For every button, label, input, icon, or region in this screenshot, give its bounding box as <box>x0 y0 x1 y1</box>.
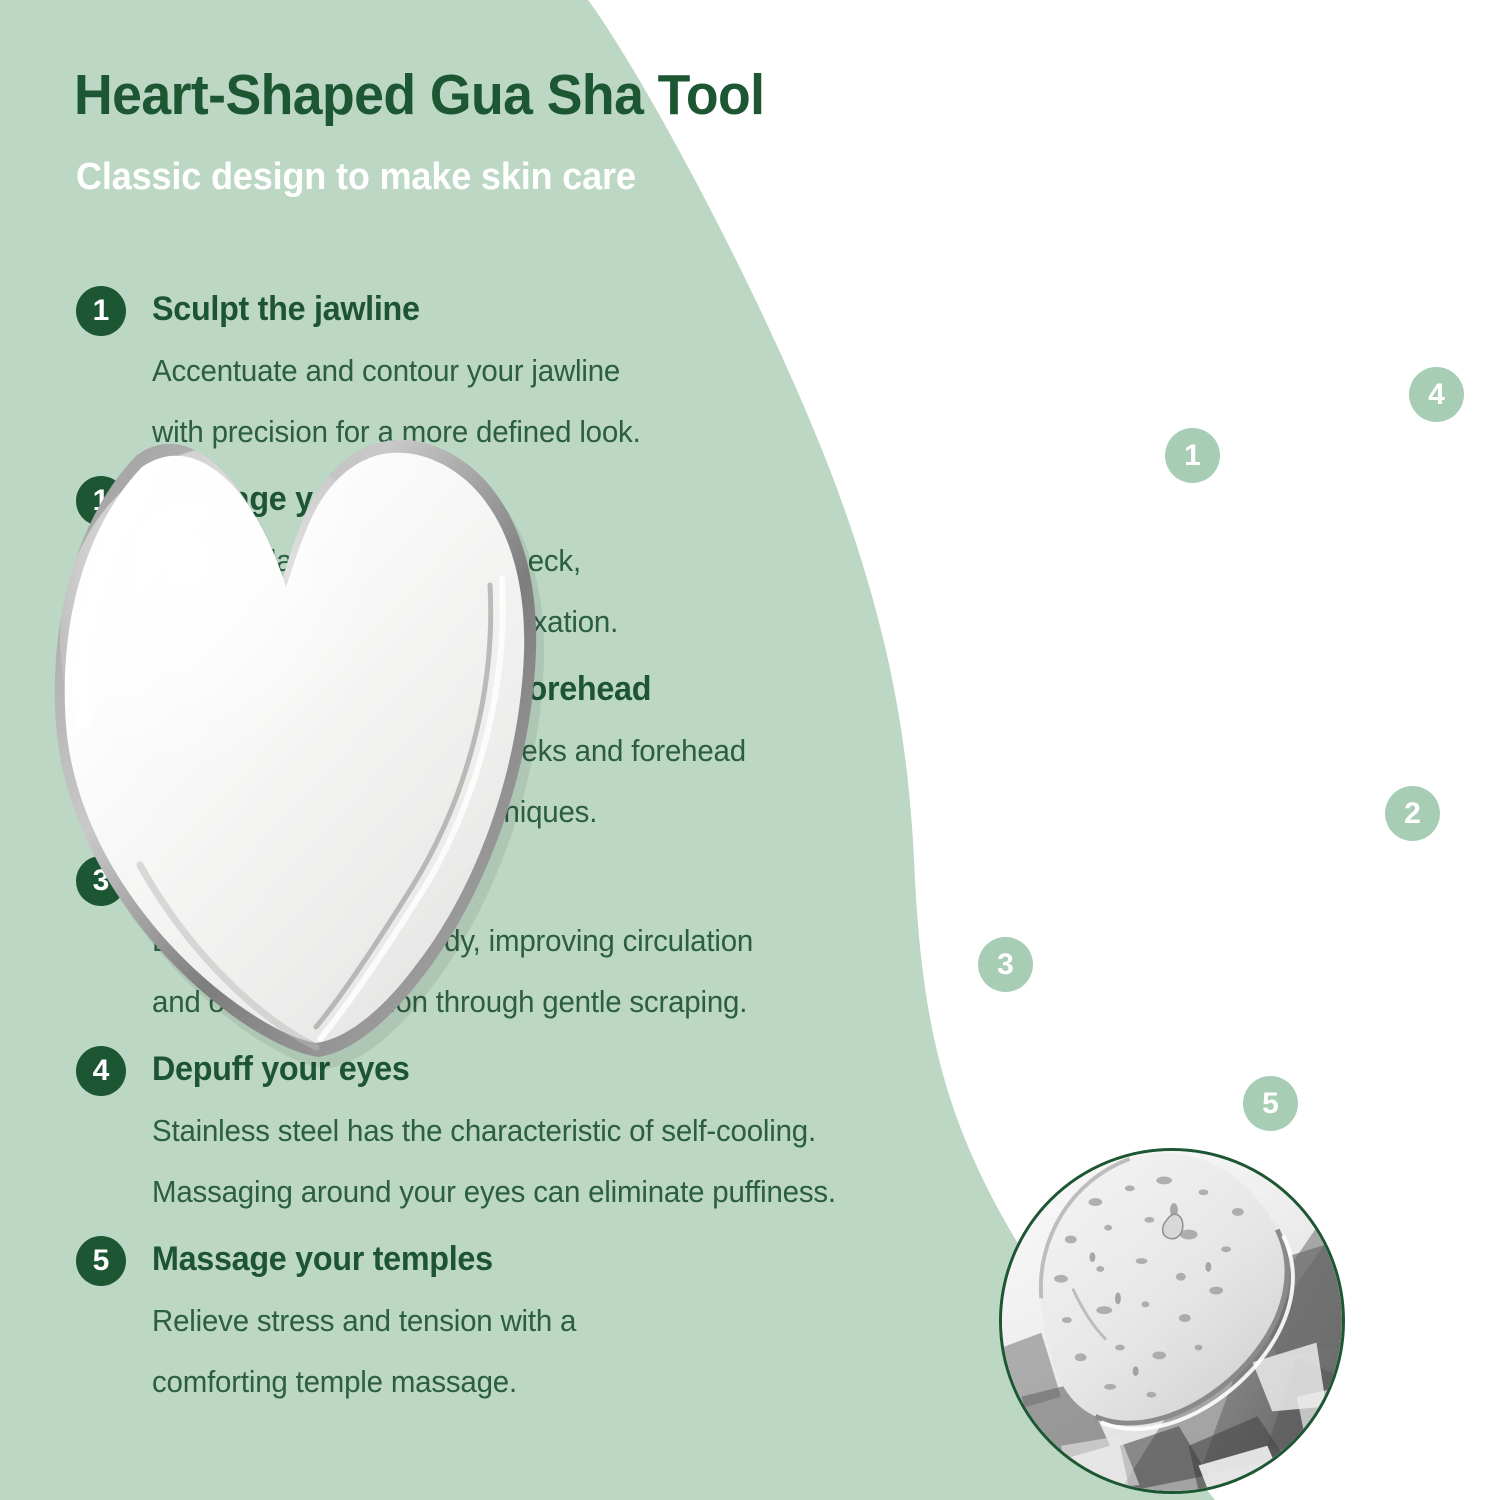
product-marker-3: 3 <box>978 937 1033 992</box>
product-marker-4: 4 <box>1409 367 1464 422</box>
product-infographic: Heart-Shaped Gua Sha Tool Classic design… <box>0 0 1499 1500</box>
feature-description-line: Relieve stress and tension with a <box>152 1290 901 1351</box>
feature-description-line: comforting temple massage. <box>152 1351 901 1412</box>
feature-heading: Sculpt the jawline <box>152 284 901 334</box>
page-title: Heart-Shaped Gua Sha Tool <box>74 62 764 128</box>
product-marker-2: 2 <box>1385 786 1440 841</box>
ice-detail-inset-image <box>999 1148 1345 1494</box>
feature-description-line: Massaging around your eyes can eliminate… <box>152 1161 901 1222</box>
product-marker-1: 1 <box>1165 428 1220 483</box>
product-marker-5: 5 <box>1243 1076 1298 1131</box>
page-subtitle: Classic design to make skin care <box>76 156 636 199</box>
gua-sha-tool-image <box>20 395 580 1075</box>
feature-description: Relieve stress and tension with a comfor… <box>152 1290 901 1412</box>
feature-badge: 5 <box>76 1236 126 1286</box>
feature-description: Stainless steel has the characteristic o… <box>152 1100 901 1222</box>
feature-description-line: Accentuate and contour your jawline <box>152 340 901 401</box>
feature-description-line: Stainless steel has the characteristic o… <box>152 1100 901 1161</box>
feature-badge: 1 <box>76 286 126 336</box>
ice-photo-illustration <box>1002 1151 1342 1491</box>
feature-item-6: 5 Massage your temples Relieve stress an… <box>0 1234 940 1412</box>
feature-heading: Massage your temples <box>152 1234 901 1284</box>
